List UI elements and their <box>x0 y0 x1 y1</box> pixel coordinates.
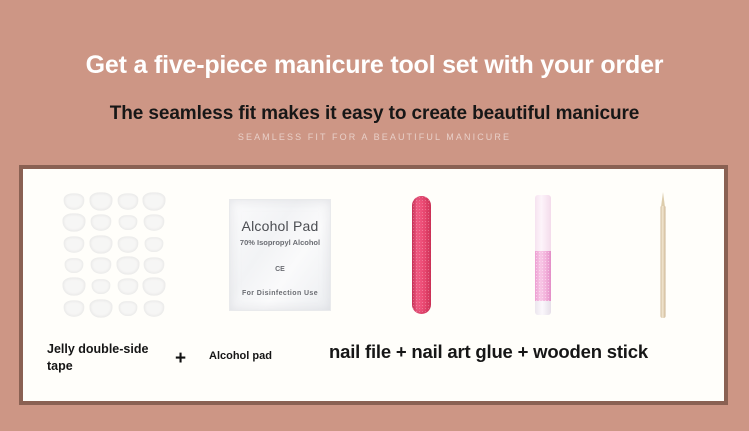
packet-title: Alcohol Pad <box>230 218 330 234</box>
caption-tools-group: nail file + nail art glue + wooden stick <box>329 341 648 363</box>
product-image-alcohol-pad: Alcohol Pad 70% Isopropyl Alcohol CE For… <box>197 169 363 341</box>
packet-ce-mark: CE <box>230 266 330 273</box>
nail-file-icon <box>412 196 431 314</box>
product-image-nail-art-glue <box>475 169 611 341</box>
product-caption-row: Jelly double-side tape + Alcohol pad nai… <box>23 333 724 401</box>
nail-glue-bottle-icon <box>535 195 551 315</box>
product-image-wooden-stick <box>595 169 731 341</box>
jelly-tape-sheet-icon <box>62 192 166 318</box>
product-panel: Alcohol Pad 70% Isopropyl Alcohol CE For… <box>19 165 728 405</box>
caption-alcohol-pad: Alcohol pad <box>209 350 349 362</box>
product-image-row: Alcohol Pad 70% Isopropyl Alcohol CE For… <box>23 169 724 341</box>
page-headline: Get a five-piece manicure tool set with … <box>0 50 749 80</box>
wooden-stick-icon <box>660 192 667 318</box>
caption-jelly-tape: Jelly double-side tape <box>47 341 167 375</box>
packet-subtitle: 70% Isopropyl Alcohol <box>230 238 330 247</box>
alcohol-pad-packet-icon: Alcohol Pad 70% Isopropyl Alcohol CE For… <box>229 199 331 311</box>
caption-plus-separator: + <box>175 348 186 370</box>
packet-footer: For Disinfection Use <box>230 290 330 297</box>
product-image-jelly-tape <box>31 169 197 341</box>
page-tagline: SEAMLESS FIT FOR A BEAUTIFUL MANICURE <box>0 131 749 143</box>
page-subheadline: The seamless fit makes it easy to create… <box>0 102 749 126</box>
product-image-nail-file <box>353 169 489 341</box>
